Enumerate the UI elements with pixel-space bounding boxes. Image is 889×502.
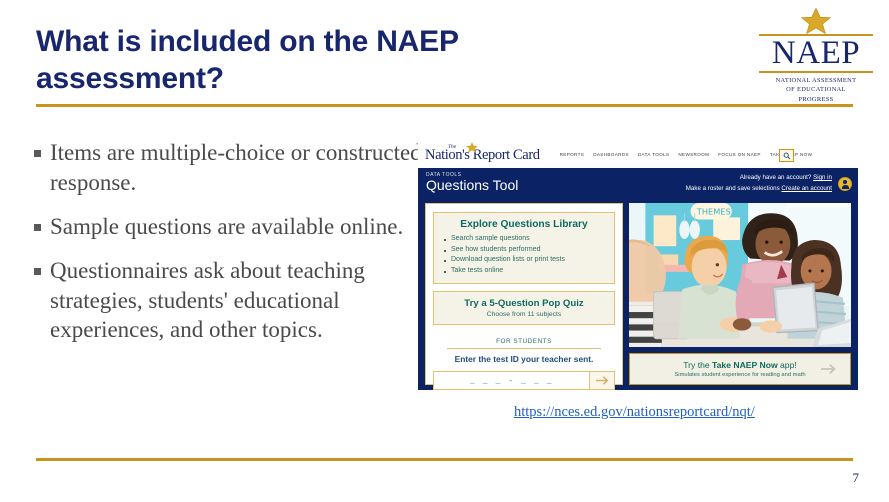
- nav-item-reports[interactable]: REPORTS: [560, 152, 585, 157]
- logo-tagline-line-2: OF EDUCATIONAL: [757, 85, 875, 94]
- nations-report-card-logo[interactable]: The Nation's Report Card: [425, 146, 540, 164]
- quiz-title: Try a 5-Question Pop Quiz: [442, 298, 606, 309]
- logo-tagline: NATIONAL ASSESSMENT OF EDUCATIONAL PROGR…: [757, 73, 875, 103]
- questions-tool-body: Explore Questions Library Search sample …: [418, 198, 858, 390]
- logo-wordmark: NAEP: [757, 36, 875, 71]
- logo-tagline-line-1: NATIONAL ASSESSMENT: [757, 76, 875, 85]
- app-banner-subtitle: Simulates student experience for reading…: [674, 372, 805, 378]
- bullet-text: Sample questions are available online.: [50, 212, 403, 242]
- list-item: Items are multiple-choice or constructed…: [34, 138, 426, 198]
- page-title: What is included on the NAEP assessment?: [36, 24, 596, 97]
- sign-in-link[interactable]: Sign in: [813, 174, 832, 181]
- test-id-submit-button[interactable]: [590, 371, 615, 390]
- naep-logo: NAEP NATIONAL ASSESSMENT OF EDUCATIONAL …: [757, 8, 875, 96]
- test-id-placeholder: _ _ _ - _ _ _: [470, 378, 553, 386]
- explore-questions-library-box[interactable]: Explore Questions Library Search sample …: [433, 212, 615, 284]
- create-account-link[interactable]: Create an account: [781, 185, 832, 192]
- questions-tool-banner: DATA TOOLS Questions Tool Already have a…: [418, 168, 858, 198]
- brand-the: The: [448, 144, 456, 150]
- bullet-list: Items are multiple-choice or constructed…: [34, 138, 426, 359]
- banner-title: Questions Tool: [426, 178, 518, 193]
- app-banner-text-before: Try the: [683, 360, 712, 370]
- bullet-marker-icon: [34, 224, 41, 231]
- app-banner-text-strong: Take NAEP Now: [712, 360, 778, 370]
- test-id-input[interactable]: _ _ _ - _ _ _: [433, 371, 590, 390]
- search-icon[interactable]: [779, 149, 794, 162]
- roster-prompt: Make a roster and save selections: [686, 185, 780, 192]
- list-item: Sample questions are available online.: [34, 212, 426, 242]
- bullet-text: Questionnaires ask about teaching strate…: [50, 256, 426, 346]
- list-item: Questionnaires ask about teaching strate…: [34, 256, 426, 346]
- star-icon: [799, 8, 833, 34]
- arrow-right-icon: [595, 375, 610, 386]
- bullet-marker-icon: [34, 268, 41, 275]
- list-item: Download question lists or print tests: [442, 255, 606, 266]
- arrow-right-icon: [820, 363, 838, 376]
- footer-divider: [36, 458, 853, 461]
- left-panel: Explore Questions Library Search sample …: [425, 203, 623, 385]
- page-number: 7: [853, 470, 860, 486]
- nav-item-newsroom[interactable]: NEWSROOM: [678, 152, 709, 157]
- account-prompt: Already have an account?: [740, 174, 812, 181]
- embedded-screenshot: The Nation's Report Card REPORTS DASHBOA…: [418, 141, 858, 390]
- logo-tagline-line-3: PROGRESS: [757, 95, 875, 104]
- star-icon: [465, 142, 479, 153]
- for-students-label: FOR STUDENTS: [433, 338, 615, 345]
- bullet-text: Items are multiple-choice or constructed…: [50, 138, 426, 198]
- classroom-photo-illustration: THEMES: [629, 203, 851, 347]
- test-id-prompt: Enter the test ID your teacher sent.: [433, 354, 615, 364]
- nav-item-focus-on-naep[interactable]: FOCUS ON NAEP: [718, 152, 761, 157]
- title-divider: [36, 104, 853, 107]
- brand-name: Nation's Report Card: [425, 147, 540, 163]
- nav-item-dashboards[interactable]: DASHBOARDS: [593, 152, 629, 157]
- search-glyph: [783, 152, 791, 160]
- logo-star-wrap: [757, 8, 875, 34]
- list-item: See how students performed: [442, 245, 606, 256]
- account-prompt-row: Already have an account? Sign in: [686, 173, 832, 184]
- right-panel: THEMES: [629, 203, 851, 385]
- for-students-divider: [447, 348, 601, 349]
- quiz-subtitle: Choose from 11 subjects: [442, 311, 606, 318]
- explore-feature-list: Search sample questions See how students…: [442, 234, 606, 277]
- list-item: Take tests online: [442, 266, 606, 277]
- explore-title: Explore Questions Library: [442, 219, 606, 230]
- list-item: Search sample questions: [442, 234, 606, 245]
- user-avatar-icon[interactable]: [838, 177, 852, 191]
- bullet-marker-icon: [34, 150, 41, 157]
- source-url-link[interactable]: https://nces.ed.gov/nationsreportcard/nq…: [514, 404, 755, 421]
- roster-prompt-row: Make a roster and save selections Create…: [686, 184, 832, 195]
- pop-quiz-box[interactable]: Try a 5-Question Pop Quiz Choose from 11…: [433, 291, 615, 325]
- nav-item-data-tools[interactable]: DATA TOOLS: [638, 152, 670, 157]
- test-id-row: _ _ _ - _ _ _: [433, 371, 615, 390]
- nrc-top-bar: The Nation's Report Card REPORTS DASHBOA…: [418, 141, 858, 168]
- nrc-nav: REPORTS DASHBOARDS DATA TOOLS NEWSROOM F…: [560, 152, 813, 157]
- app-banner-text-after: app!: [778, 360, 797, 370]
- classroom-photo: THEMES: [629, 203, 851, 347]
- app-banner-title: Try the Take NAEP Now app!: [683, 360, 797, 370]
- svg-text:THEMES: THEMES: [696, 206, 731, 216]
- account-links: Already have an account? Sign in Make a …: [686, 173, 832, 195]
- take-naep-now-banner[interactable]: Try the Take NAEP Now app! Simulates stu…: [629, 353, 851, 385]
